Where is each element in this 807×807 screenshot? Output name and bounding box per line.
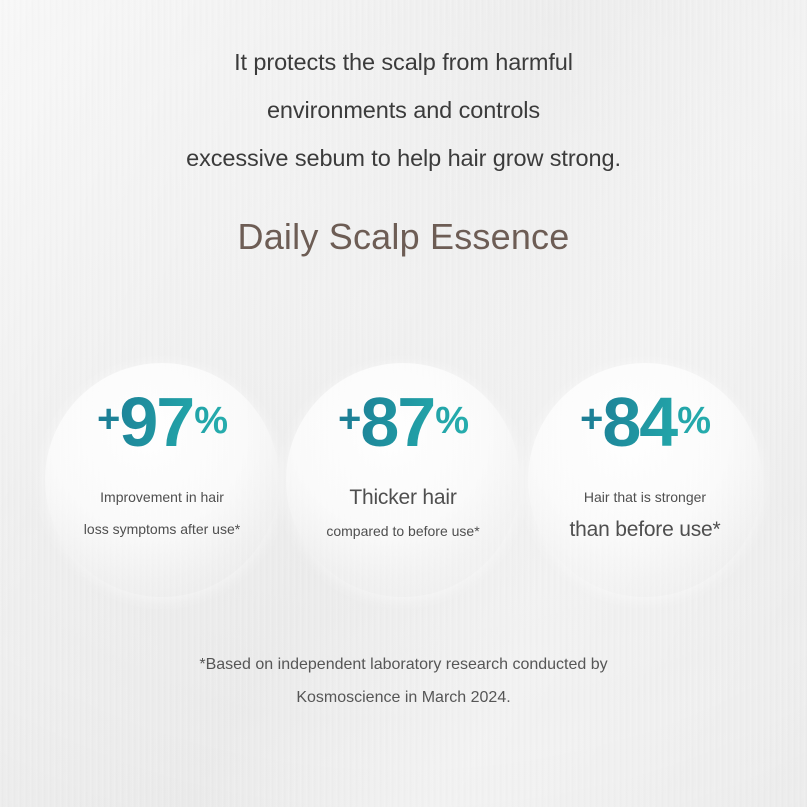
headline: It protects the scalp from harmful envir…: [0, 0, 807, 182]
stat-plus-sign-2: +: [338, 397, 360, 441]
stat-caption-3-line-2: than before use*: [528, 513, 762, 547]
stat-circle-2: +87% Thicker hair compared to before use…: [286, 363, 520, 597]
stat-caption-3-line-1: Hair that is stronger: [528, 481, 762, 513]
stat-caption-1-line-1: Improvement in hair: [45, 481, 279, 513]
percent-icon-3: %: [677, 400, 710, 442]
footnote-line-1: *Based on independent laboratory researc…: [0, 648, 807, 681]
product-title: Daily Scalp Essence: [0, 182, 807, 259]
footnote-line-2: Kosmoscience in March 2024.: [0, 681, 807, 714]
headline-line-3: excessive sebum to help hair grow strong…: [0, 134, 807, 182]
stat-circle-1: +97% Improvement in hair loss symptoms a…: [45, 363, 279, 597]
stat-caption-3: Hair that is stronger than before use*: [528, 457, 762, 547]
stat-plus-sign-1: +: [97, 397, 119, 441]
stat-caption-1: Improvement in hair loss symptoms after …: [45, 457, 279, 545]
promo-banner: It protects the scalp from harmful envir…: [0, 0, 807, 807]
stat-caption-2: Thicker hair compared to before use*: [286, 457, 520, 547]
headline-line-2: environments and controls: [0, 86, 807, 134]
stat-value-1: +97%: [45, 363, 279, 457]
stat-number-3: 84: [602, 383, 676, 461]
promo-content: It protects the scalp from harmful envir…: [0, 0, 807, 259]
headline-line-1: It protects the scalp from harmful: [0, 38, 807, 86]
stat-caption-2-line-2: compared to before use*: [286, 515, 520, 547]
stat-value-3: +84%: [528, 363, 762, 457]
stat-caption-2-line-1: Thicker hair: [286, 481, 520, 515]
stat-value-2: +87%: [286, 363, 520, 457]
stat-number-2: 87: [360, 383, 434, 461]
stats-row: +97% Improvement in hair loss symptoms a…: [0, 363, 807, 597]
footnote: *Based on independent laboratory researc…: [0, 648, 807, 714]
stat-caption-1-line-2: loss symptoms after use*: [45, 513, 279, 545]
percent-icon-2: %: [435, 400, 468, 442]
percent-icon-1: %: [194, 400, 227, 442]
stat-number-1: 97: [119, 383, 193, 461]
stat-plus-sign-3: +: [580, 397, 602, 441]
stat-circle-3: +84% Hair that is stronger than before u…: [528, 363, 762, 597]
